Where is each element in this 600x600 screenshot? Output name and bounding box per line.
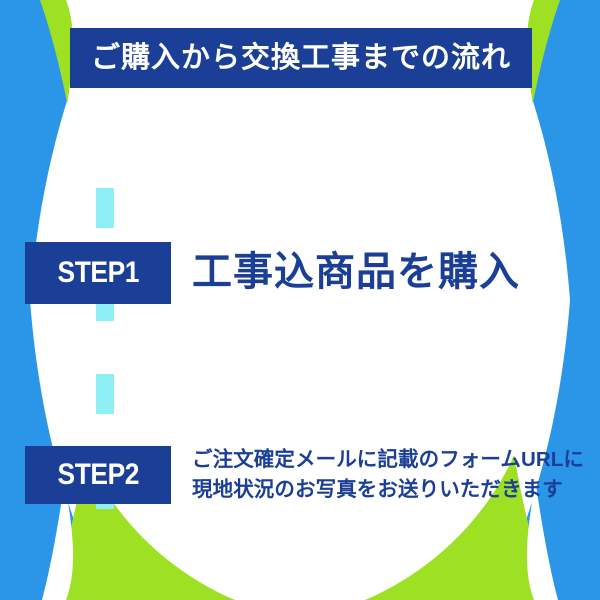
infographic-canvas: ご購入から交換工事までの流れ STEP1 工事込商品を購入 STEP2 ご注文確… xyxy=(0,0,600,600)
connector-rail-3-4 xyxy=(96,374,114,414)
step-row-5: STEP5 交換工事 xyxy=(0,509,600,571)
header-banner: ご購入から交換工事までの流れ xyxy=(70,28,532,88)
page-title: ご購入から交換工事までの流れ xyxy=(91,44,511,73)
step-description-line: 現地状況のお写真をお送りいただきます xyxy=(192,475,584,505)
step-row-1: STEP1 工事込商品を購入 xyxy=(0,121,600,183)
step-row-4: STEP4 交換商品が確定いたしましたら施工担当者 より交換日時のお打ち合わせを… xyxy=(0,409,600,467)
step-row-3: STEP3 お写真で判断ができない場合は 現地調査を行います xyxy=(0,316,600,374)
connector-rail-1-2 xyxy=(96,188,114,228)
step-row-2: STEP2 ご注文確定メールに記載のフォームURLに 現地状況のお写真をお送りい… xyxy=(0,223,600,281)
